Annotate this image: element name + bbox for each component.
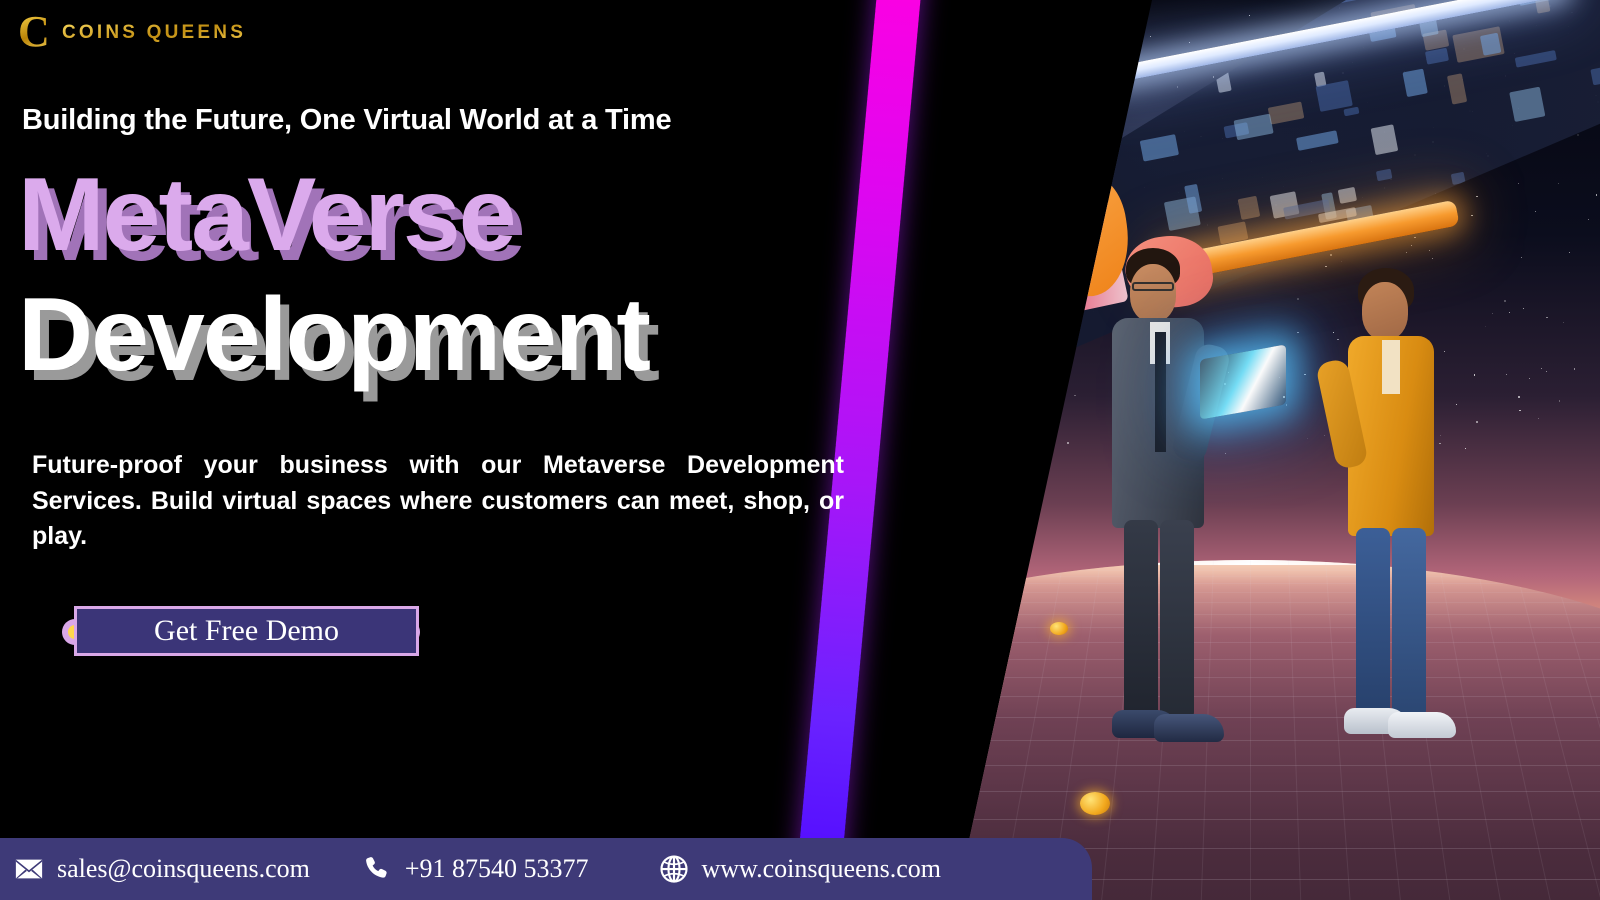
headline-line-1: MetaVerse (18, 168, 515, 264)
avatar-head (1362, 282, 1408, 340)
contact-email[interactable]: sales@coinsqueens.com (14, 854, 310, 884)
contact-footer-bar: sales@coinsqueens.com +91 87540 53377 ww… (0, 838, 1092, 900)
get-free-demo-button[interactable]: Get Free Demo (74, 606, 419, 656)
phone-text: +91 87540 53377 (405, 854, 589, 884)
phone-icon (362, 854, 392, 884)
avatar-leg (1356, 528, 1390, 718)
avatar-leg (1160, 520, 1194, 720)
logo-c-monogram-icon: C (18, 14, 48, 52)
businesswoman-avatar (1330, 268, 1460, 768)
floating-coin (912, 822, 932, 832)
avatar-tie (1155, 332, 1166, 452)
globe-icon (659, 854, 689, 884)
avatar-blouse (1382, 340, 1400, 394)
contact-website[interactable]: www.coinsqueens.com (659, 854, 941, 884)
website-text: www.coinsqueens.com (702, 854, 941, 884)
avatar-leg (1392, 528, 1426, 718)
hero-artwork (900, 0, 1600, 900)
avatar-glasses (1132, 282, 1174, 291)
description-text: Future-proof your business with our Meta… (32, 448, 844, 555)
email-text: sales@coinsqueens.com (57, 854, 310, 884)
avatar-shoe (1154, 714, 1224, 742)
brand-name: COINS QUEENS (62, 22, 246, 44)
avatar-shoe (1388, 712, 1456, 738)
avatar-leg (1124, 520, 1158, 720)
envelope-icon (14, 854, 44, 884)
cta-container: Get Free Demo (62, 600, 432, 664)
floating-coin (1050, 622, 1068, 635)
avatar-head (1130, 264, 1176, 322)
businessman-avatar (1096, 248, 1226, 768)
headline-line-2: Development (18, 288, 649, 384)
marketing-banner: C COINS QUEENS Building the Future, One … (0, 0, 1600, 900)
brand-logo[interactable]: C COINS QUEENS (18, 14, 246, 52)
floating-coin (928, 688, 954, 708)
content-panel: C COINS QUEENS Building the Future, One … (0, 0, 900, 900)
tagline: Building the Future, One Virtual World a… (22, 104, 671, 137)
contact-phone[interactable]: +91 87540 53377 (362, 854, 589, 884)
floating-coin (1080, 792, 1110, 815)
